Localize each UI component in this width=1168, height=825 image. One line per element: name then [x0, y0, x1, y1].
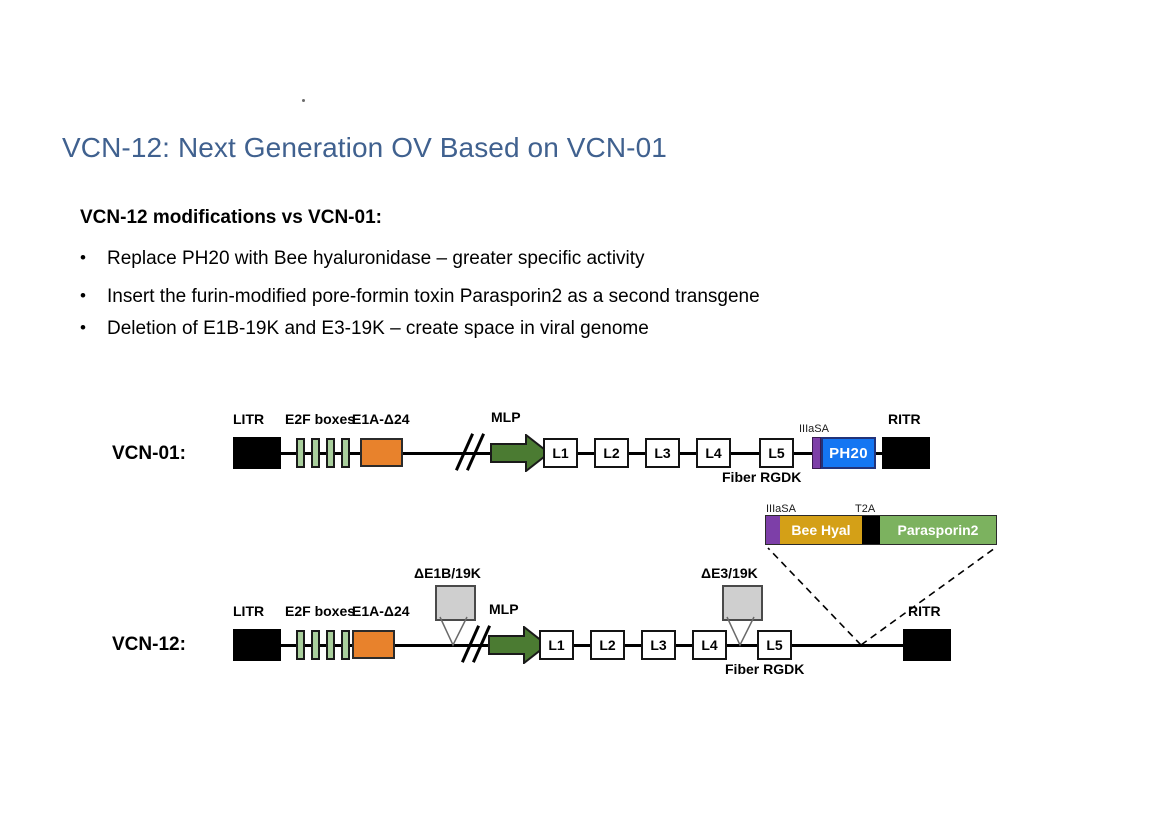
caption-cassette-iiiasa: IIIaSA	[766, 503, 796, 515]
e1a-box-vcn01	[360, 438, 403, 467]
ritr-box-vcn12	[903, 629, 951, 661]
transgene-cassette: Bee Hyal Parasporin2	[765, 515, 997, 545]
caption-e1a-vcn12: E1A-Δ24	[352, 603, 410, 619]
caption-litr-vcn12: LITR	[233, 603, 264, 619]
litr-box-vcn01	[233, 437, 281, 469]
late-unit-box: L1	[543, 438, 578, 468]
e2f-bar	[311, 630, 320, 660]
late-unit-box: L5	[759, 438, 794, 468]
e1a-box-vcn12	[352, 630, 395, 659]
genome-diagram: VCN-01: VCN-12: LITR E2F boxes E1A-Δ24 M…	[0, 0, 1168, 825]
deletion-funnel-e3	[727, 617, 754, 645]
e2f-bar	[341, 438, 350, 468]
construct-label-vcn12: VCN-12:	[112, 634, 186, 656]
caption-e2f-vcn12: E2F boxes	[285, 603, 355, 619]
late-unit-box: L1	[539, 630, 574, 660]
iiiasa-bar-vcn01	[812, 437, 821, 469]
e2f-bar	[296, 630, 305, 660]
late-unit-box: L3	[645, 438, 680, 468]
late-unit-box: L2	[590, 630, 625, 660]
cassette-segment-parasporin2: Parasporin2	[880, 516, 996, 544]
caption-cassette-t2a: T2A	[855, 503, 875, 515]
late-unit-box: L4	[696, 438, 731, 468]
caption-mlp-vcn12: MLP	[489, 601, 519, 617]
cassette-segment-bee-hyal: Bee Hyal	[780, 516, 862, 544]
e2f-bar	[311, 438, 320, 468]
e2f-bar	[341, 630, 350, 660]
caption-e2f-vcn01: E2F boxes	[285, 411, 355, 427]
caption-fiber-vcn01: Fiber RGDK	[722, 469, 801, 485]
deletion-box-e3	[722, 585, 763, 621]
late-unit-box: L4	[692, 630, 727, 660]
caption-ritr-vcn01: RITR	[888, 411, 921, 427]
cassette-segment-iiiasa	[766, 516, 780, 544]
deletion-box-e1b	[435, 585, 476, 621]
ph20-box: PH20	[821, 437, 876, 469]
caption-litr-vcn01: LITR	[233, 411, 264, 427]
ritr-box-vcn01	[882, 437, 930, 469]
late-unit-box: L5	[757, 630, 792, 660]
caption-fiber-vcn12: Fiber RGDK	[725, 661, 804, 677]
e2f-bar	[326, 438, 335, 468]
connector-overlay	[0, 0, 1168, 825]
mlp-arrow-vcn01	[490, 434, 550, 472]
late-unit-box: L2	[594, 438, 629, 468]
cassette-segment-t2a	[862, 516, 880, 544]
caption-deletion-e1b: ΔE1B/19K	[414, 565, 481, 581]
litr-box-vcn12	[233, 629, 281, 661]
caption-e1a-vcn01: E1A-Δ24	[352, 411, 410, 427]
caption-iiiasa-vcn01: IIIaSA	[799, 423, 829, 435]
e2f-bar	[326, 630, 335, 660]
e2f-bar	[296, 438, 305, 468]
construct-label-vcn01: VCN-01:	[112, 443, 186, 465]
caption-ritr-vcn12: RITR	[908, 603, 941, 619]
caption-mlp-vcn01: MLP	[491, 409, 521, 425]
deletion-funnel-e1b	[440, 617, 467, 645]
caption-deletion-e3: ΔE3/19K	[701, 565, 758, 581]
late-unit-box: L3	[641, 630, 676, 660]
